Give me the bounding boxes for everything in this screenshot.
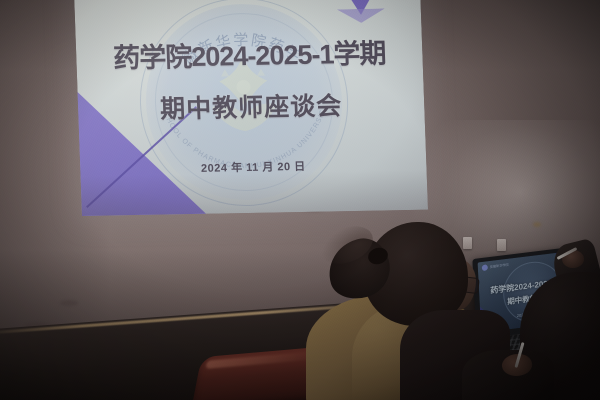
woman-foreground xyxy=(312,222,542,400)
slide-title-line2: 期中教师座谈会 xyxy=(78,85,425,127)
slide-title-line1: 药学院2024-2025-1学期 xyxy=(76,31,423,76)
photo-scene: 徽新华学院药学 SCHOOL OF PHARMACY ANHUI XINHUA … xyxy=(0,0,600,400)
projected-slide: 徽新华学院药学 SCHOOL OF PHARMACY ANHUI XINHUA … xyxy=(74,0,428,216)
wall-scuff xyxy=(60,300,78,306)
